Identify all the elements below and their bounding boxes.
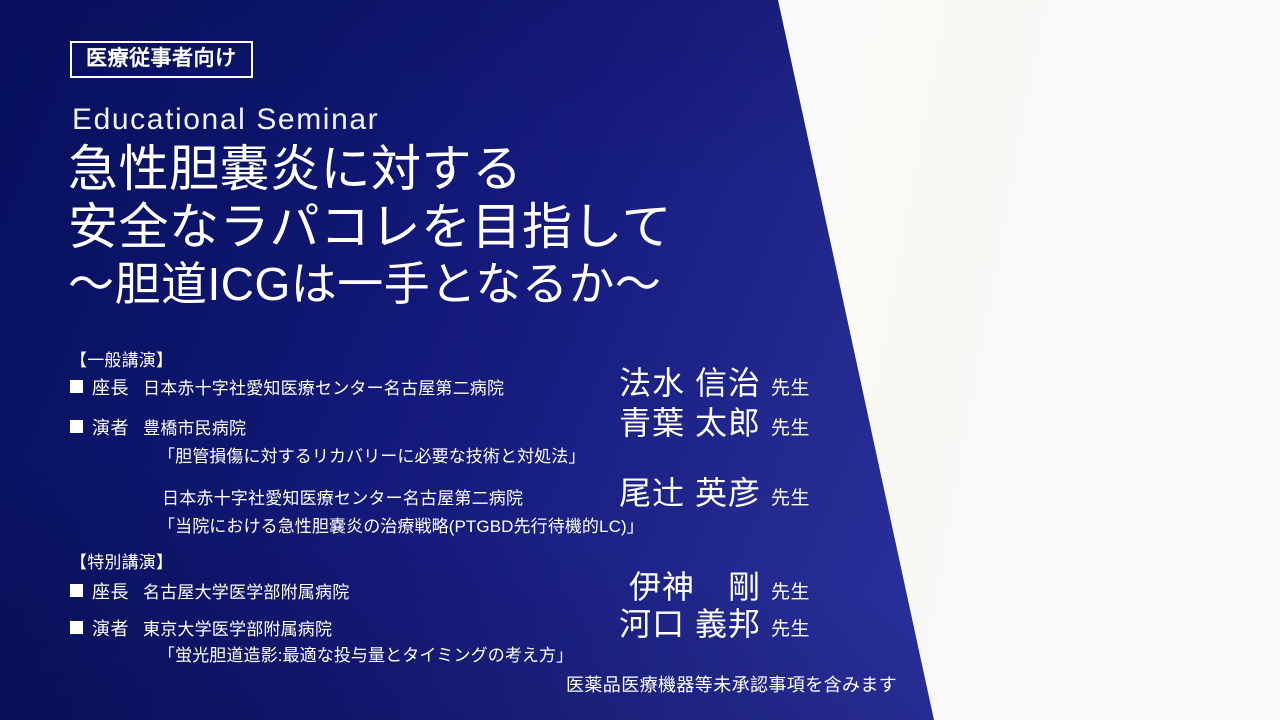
bullet-square-icon — [70, 584, 83, 597]
disclaimer-note: 医薬品医療機器等未承認事項を含みます — [566, 671, 897, 697]
eyebrow-text: Educational Seminar — [72, 103, 379, 137]
role-label: 座長 — [92, 374, 129, 400]
general-talk-title-2: 「当院における急性胆嚢炎の治療戦略(PTGBD先行待機的LC)」 — [158, 512, 644, 537]
general-talk-title-1: 「胆管損傷に対するリカバリーに必要な技術と対処法」 — [158, 442, 586, 467]
role-label: 演者 — [92, 414, 129, 440]
poster-content: 医療従事者向け Educational Seminar 急性胆嚢炎に対する 安全… — [0, 0, 1280, 720]
person-name: 青葉 太郎 — [619, 407, 761, 439]
affiliation-text: 日本赤十字社愛知医療センター名古屋第二病院 — [70, 484, 619, 509]
honorific-label: 先生 — [771, 373, 815, 400]
special-talk-title: 「蛍光胆道造影:最適な投与量とタイミングの考え方」 — [158, 641, 573, 666]
general-speaker-row-2: 日本赤十字社愛知医療センター名古屋第二病院 尾辻 英彦 先生 — [70, 477, 815, 507]
affiliation-text: 豊橋市民病院 — [143, 414, 619, 439]
audience-badge: 医療従事者向け — [70, 41, 253, 78]
honorific-label: 先生 — [771, 614, 815, 641]
honorific-label: 先生 — [771, 483, 815, 510]
bullet-square-icon — [70, 621, 83, 634]
honorific-label: 先生 — [771, 577, 815, 604]
general-chair-row: 座長 日本赤十字社愛知医療センター名古屋第二病院 法水 信治 先生 — [70, 367, 815, 397]
title-line-3: ～胆道ICGは一手となるか～ — [68, 256, 828, 312]
role-label: 座長 — [92, 578, 129, 604]
role-label: 演者 — [92, 615, 129, 641]
special-chair-row: 座長 名古屋大学医学部附属病院 伊神 剛 先生 — [70, 571, 815, 601]
special-speaker-row: 演者 東京大学医学部附属病院 河口 義邦 先生 — [70, 608, 815, 638]
page-title: 急性胆嚢炎に対する 安全なラパコレを目指して ～胆道ICGは一手となるか～ — [68, 140, 828, 312]
special-section-heading: 【特別講演】 — [70, 548, 173, 573]
affiliation-text: 名古屋大学医学部附属病院 — [143, 578, 629, 603]
honorific-label: 先生 — [771, 413, 815, 440]
affiliation-text: 日本赤十字社愛知医療センター名古屋第二病院 — [143, 374, 619, 399]
seminar-poster: 医療従事者向け Educational Seminar 急性胆嚢炎に対する 安全… — [0, 0, 1280, 720]
person-name: 尾辻 英彦 — [619, 477, 761, 509]
bullet-square-icon — [70, 380, 83, 393]
general-speaker-row-1: 演者 豊橋市民病院 青葉 太郎 先生 — [70, 407, 815, 437]
affiliation-text: 東京大学医学部附属病院 — [143, 615, 619, 640]
title-line-1: 急性胆嚢炎に対する — [68, 140, 828, 198]
bullet-square-icon — [70, 420, 83, 433]
person-name: 伊神 剛 — [629, 571, 761, 603]
title-line-2: 安全なラパコレを目指して — [68, 198, 828, 256]
person-name: 法水 信治 — [619, 367, 761, 399]
person-name: 河口 義邦 — [619, 608, 761, 640]
